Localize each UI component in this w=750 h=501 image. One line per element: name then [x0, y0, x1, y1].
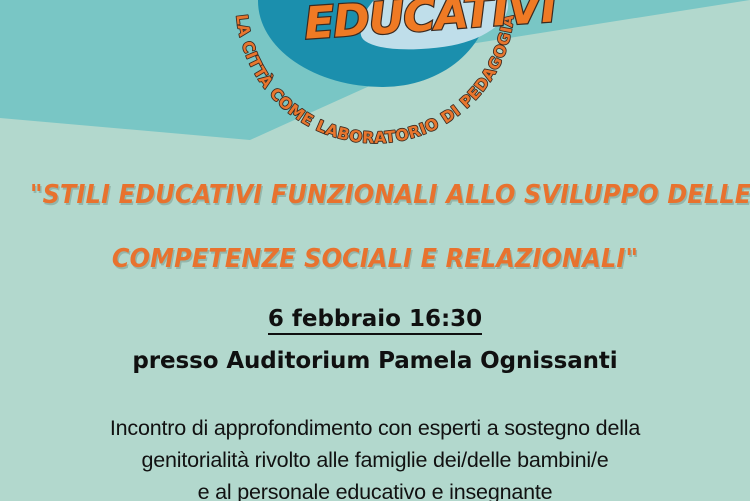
- event-description: Incontro di approfondimento con esperti …: [0, 412, 750, 501]
- headline-line-2: COMPETENZE SOCIALI E RELAZIONALI": [30, 227, 720, 291]
- description-line-1: Incontro di approfondimento con esperti …: [0, 412, 750, 444]
- event-date-time: 6 febbraio 16:30: [0, 306, 750, 332]
- description-line-2: genitorialità rivolto alle famiglie dei/…: [0, 444, 750, 476]
- event-venue: presso Auditorium Pamela Ognissanti: [0, 348, 750, 374]
- event-date-time-value: 6 febbraio 16:30: [268, 306, 482, 335]
- headline-line-1: "STILI EDUCATIVI FUNZIONALI ALLO SVILUPP…: [30, 163, 720, 227]
- educativi-logo: LA CITTÀ COME LABORATORIO DI PEDAGOGIA E…: [230, 0, 520, 172]
- event-poster: LA CITTÀ COME LABORATORIO DI PEDAGOGIA E…: [0, 0, 750, 501]
- description-line-3: e al personale educativo e insegnante: [0, 476, 750, 501]
- poster-headline: "STILI EDUCATIVI FUNZIONALI ALLO SVILUPP…: [30, 163, 720, 291]
